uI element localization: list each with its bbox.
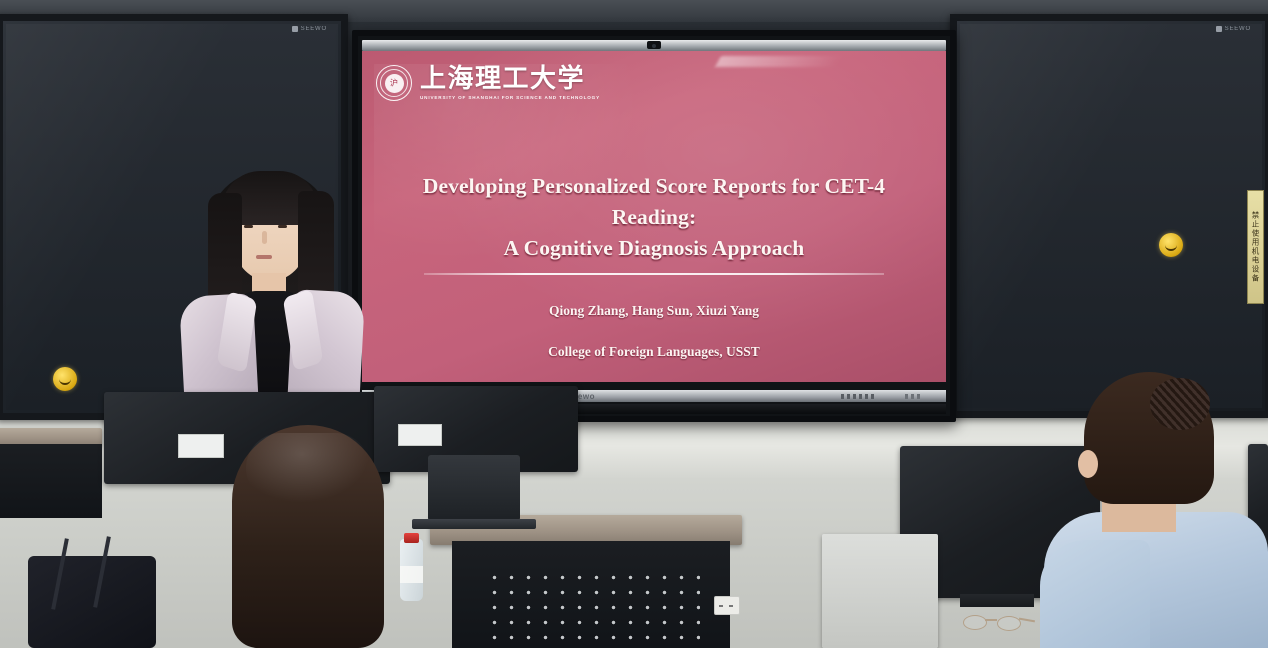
wall-warning-sign: 禁止使用机电设备 — [1247, 190, 1264, 304]
crest-text: 沪 — [390, 78, 398, 89]
laptop-screen — [428, 455, 520, 521]
glasses-bridge — [985, 619, 997, 621]
slide-divider — [424, 273, 884, 275]
outlet-slot — [719, 605, 723, 607]
interactive-display[interactable]: 沪 上海理工大学 UNIVERSITY OF SHANGHAI FOR SCIE… — [352, 30, 956, 422]
outlet-slot — [729, 605, 733, 607]
left-panel-brand: SEEWO — [292, 26, 327, 32]
right-brand-label: SEEWO — [1225, 26, 1251, 32]
glasses-arm — [1019, 618, 1035, 622]
audience-left-person — [232, 425, 384, 648]
bottle-label — [400, 566, 423, 583]
slide-affiliation: College of Foreign Languages, USST — [362, 344, 946, 360]
audience-right-hair-bun — [1150, 378, 1210, 430]
bottle-cap — [404, 533, 419, 543]
wall-sign-text: 禁止使用机电设备 — [1250, 211, 1261, 283]
presenter-eye-left — [244, 225, 253, 228]
yellow-round-marker-icon — [53, 367, 77, 391]
slide-title-line1: Developing Personalized Score Reports fo… — [390, 171, 918, 233]
university-name-cn: 上海理工大学 — [420, 66, 600, 92]
audience-right-ear — [1078, 450, 1098, 478]
slide-title: Developing Personalized Score Reports fo… — [362, 171, 946, 265]
presenter-mouth — [256, 255, 272, 259]
brand-mark-icon — [1216, 26, 1222, 32]
display-control-dots[interactable] — [841, 394, 874, 399]
left-brand-label: SEEWO — [301, 26, 327, 32]
yellow-round-marker-icon — [1159, 233, 1183, 257]
screen-glare — [715, 56, 841, 67]
desk-panel — [0, 444, 102, 518]
university-crest-icon: 沪 — [376, 65, 412, 101]
audience-right-shoulder — [1040, 540, 1150, 648]
black-bag — [28, 556, 156, 648]
right-panel-board: SEEWO — [950, 14, 1268, 418]
asset-label — [398, 424, 442, 446]
brand-mark-icon — [292, 26, 298, 32]
glasses-lens-right — [997, 616, 1021, 631]
asset-label — [178, 434, 224, 458]
desk-perforated-panel — [486, 570, 700, 648]
desk-divider-panel — [822, 534, 938, 648]
eyeglasses — [963, 614, 1033, 630]
right-panel-glass — [960, 24, 1262, 408]
presenter-person — [178, 165, 362, 410]
classroom-photo: SEEWO SEEWO 禁止使用机电设备 沪 上海理工大学 — [0, 0, 1268, 648]
monitor-stand — [960, 594, 1034, 607]
slide-authors: Qiong Zhang, Hang Sun, Xiuzi Yang — [362, 303, 946, 319]
slide-title-line2: A Cognitive Diagnosis Approach — [390, 233, 918, 264]
presenter-nose — [262, 231, 267, 244]
display-control-dots-secondary[interactable] — [905, 394, 920, 399]
glasses-lens-left — [963, 615, 987, 630]
camera-icon — [647, 41, 661, 49]
audience-right-person — [1040, 372, 1268, 648]
university-name-en: UNIVERSITY OF SHANGHAI FOR SCIENCE AND T… — [420, 95, 600, 100]
presentation-slide: 沪 上海理工大学 UNIVERSITY OF SHANGHAI FOR SCIE… — [362, 51, 946, 382]
power-outlet — [714, 596, 740, 615]
presenter-eye-right — [278, 225, 287, 228]
university-logo: 沪 上海理工大学 UNIVERSITY OF SHANGHAI FOR SCIE… — [376, 65, 600, 101]
laptop-base — [412, 519, 536, 529]
right-panel-brand: SEEWO — [1216, 26, 1251, 32]
